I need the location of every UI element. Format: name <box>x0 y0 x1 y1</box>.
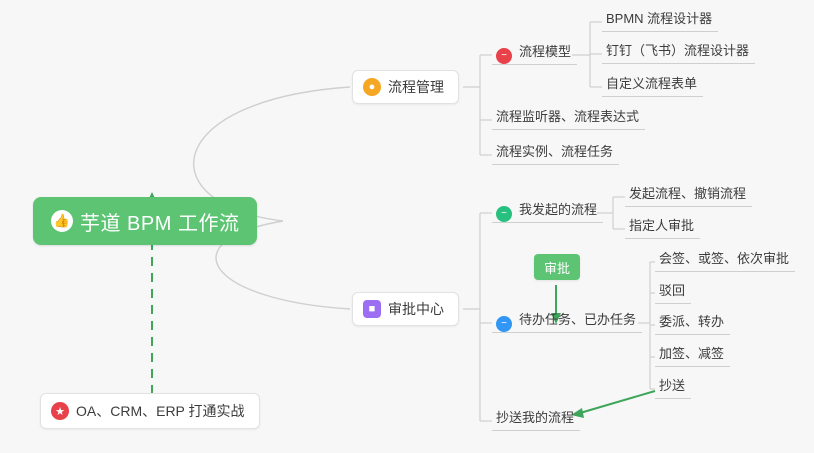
leaf-node-label: 自定义流程表单 <box>606 74 697 96</box>
sub-node-label: 待办任务、已办任务 <box>519 310 636 332</box>
branch-node-process-management[interactable]: ● 流程管理 <box>352 70 459 104</box>
mindmap-canvas: 👍 芋道 BPM 工作流 ● 流程管理 − 流程模型 流程监听器、流程表达式 流… <box>0 0 814 453</box>
leaf-node-cc-to-me[interactable]: 抄送我的流程 <box>492 407 580 431</box>
sub-node-label: 我发起的流程 <box>519 200 597 222</box>
branch-node-approval-center[interactable]: ■ 审批中心 <box>352 292 459 326</box>
leaf-node-listener-expression[interactable]: 流程监听器、流程表达式 <box>492 106 645 130</box>
leaf-node-label: 指定人审批 <box>629 216 694 238</box>
sub-node-label: 流程模型 <box>519 42 571 64</box>
leaf-node-label: 流程监听器、流程表达式 <box>496 107 639 129</box>
leaf-node-bpmn-designer[interactable]: BPMN 流程设计器 <box>602 8 718 32</box>
bottom-note[interactable]: ★ OA、CRM、ERP 打通实战 <box>40 393 260 429</box>
root-node-label: 芋道 BPM 工作流 <box>80 207 239 236</box>
leaf-node-label: 抄送 <box>659 376 685 398</box>
star-circle-icon: ★ <box>51 402 69 420</box>
leaf-node-instance-task[interactable]: 流程实例、流程任务 <box>492 141 619 165</box>
leaf-node-add-remove-sign[interactable]: 加签、减签 <box>655 343 730 367</box>
leaf-node-dingtalk-designer[interactable]: 钉钉（飞书）流程设计器 <box>602 40 755 64</box>
sub-node-todo-done-tasks[interactable]: − 待办任务、已办任务 <box>492 309 642 333</box>
leaf-node-label: 加签、减签 <box>659 344 724 366</box>
leaf-node-assign-approver[interactable]: 指定人审批 <box>625 215 700 239</box>
root-node[interactable]: 👍 芋道 BPM 工作流 <box>33 197 257 245</box>
leaf-node-label: BPMN 流程设计器 <box>606 9 712 31</box>
approval-tag[interactable]: 审批 <box>534 254 580 280</box>
sub-node-my-started-processes[interactable]: − 我发起的流程 <box>492 199 603 223</box>
leaf-node-delegate-transfer[interactable]: 委派、转办 <box>655 311 730 335</box>
bottom-note-label: OA、CRM、ERP 打通实战 <box>76 401 245 421</box>
branch-label: 审批中心 <box>388 299 444 319</box>
approval-tag-label: 审批 <box>544 258 570 277</box>
leaf-node-reject[interactable]: 驳回 <box>655 280 691 304</box>
leaf-node-label: 抄送我的流程 <box>496 408 574 430</box>
leaf-node-label: 流程实例、流程任务 <box>496 142 613 164</box>
leaf-node-cc[interactable]: 抄送 <box>655 375 691 399</box>
branch-label: 流程管理 <box>388 77 444 97</box>
leaf-node-label: 会签、或签、依次审批 <box>659 249 789 271</box>
leaf-node-start-cancel-process[interactable]: 发起流程、撤销流程 <box>625 183 752 207</box>
minus-circle-icon: − <box>496 48 512 64</box>
minus-circle-icon: − <box>496 316 512 332</box>
thumbs-up-icon: 👍 <box>51 210 73 232</box>
leaf-node-label: 驳回 <box>659 281 685 303</box>
sub-node-process-model[interactable]: − 流程模型 <box>492 41 577 65</box>
leaf-node-label: 钉钉（飞书）流程设计器 <box>606 41 749 63</box>
location-pin-icon: ● <box>363 78 381 96</box>
leaf-node-label: 委派、转办 <box>659 312 724 334</box>
leaf-node-countersign[interactable]: 会签、或签、依次审批 <box>655 248 795 272</box>
minus-circle-icon: − <box>496 206 512 222</box>
square-dot-icon: ■ <box>363 300 381 318</box>
leaf-node-custom-form[interactable]: 自定义流程表单 <box>602 73 703 97</box>
leaf-node-label: 发起流程、撤销流程 <box>629 184 746 206</box>
